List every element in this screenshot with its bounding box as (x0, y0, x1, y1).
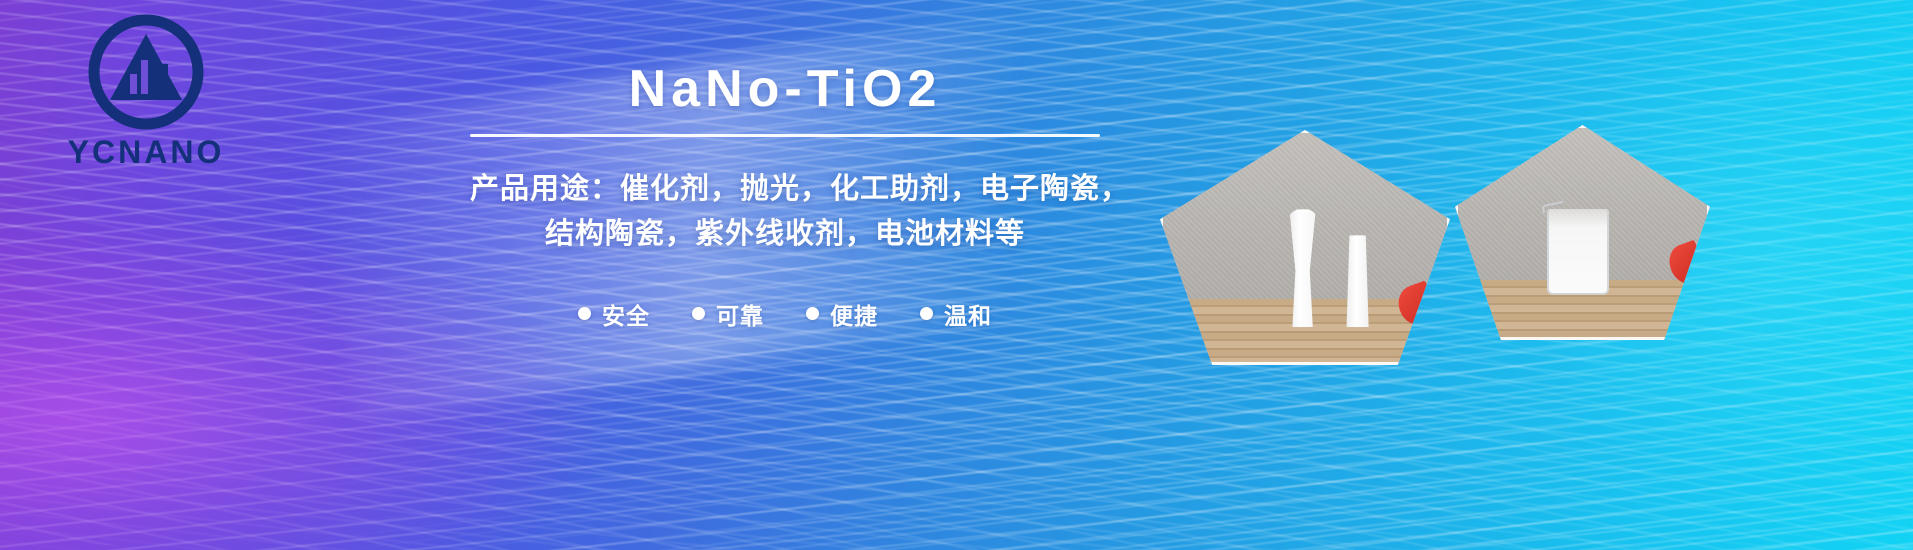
brand-logo: YCNANO (46, 12, 246, 171)
product-usage-text: 产品用途：催化剂，抛光，化工助剂，电子陶瓷， 结构陶瓷，紫外线收剂，电池材料等 (470, 167, 1100, 257)
ycnano-mountain-emblem-icon (86, 12, 206, 132)
product-title: NaNo-TiO2 (470, 60, 1100, 120)
usage-line-1: 产品用途：催化剂，抛光，化工助剂，电子陶瓷， (470, 167, 1100, 212)
feature-item-safe: 安全 (578, 297, 650, 331)
title-divider (470, 134, 1100, 137)
feature-item-convenient: 便捷 (806, 297, 878, 331)
brand-wordmark: YCNANO (46, 134, 246, 171)
banner-copy: NaNo-TiO2 产品用途：催化剂，抛光，化工助剂，电子陶瓷， 结构陶瓷，紫外… (470, 60, 1100, 331)
feature-label: 安全 (602, 297, 650, 331)
bullet-dot-icon (692, 307, 705, 320)
feature-label: 便捷 (830, 297, 878, 331)
bullet-dot-icon (806, 307, 819, 320)
feature-list: 安全 可靠 便捷 温和 (470, 297, 1100, 331)
glass-beaker (1547, 209, 1609, 295)
product-banner: YCNANO NaNo-TiO2 产品用途：催化剂，抛光，化工助剂，电子陶瓷， … (0, 0, 1913, 550)
bullet-dot-icon (578, 307, 591, 320)
feature-label: 温和 (944, 297, 992, 331)
feature-item-mild: 温和 (920, 297, 992, 331)
feature-label: 可靠 (716, 297, 764, 331)
bullet-dot-icon (920, 307, 933, 320)
feature-item-reliable: 可靠 (692, 297, 764, 331)
ceramic-vase-small (1346, 235, 1370, 327)
usage-line-2: 结构陶瓷，紫外线收剂，电池材料等 (470, 212, 1100, 257)
